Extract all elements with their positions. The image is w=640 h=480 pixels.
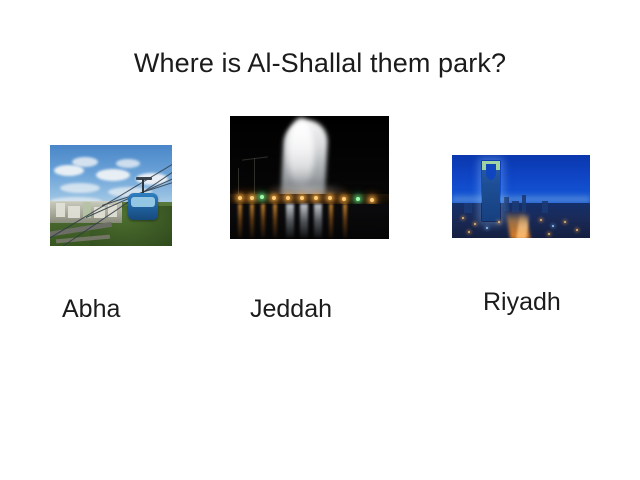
tower-arch-opening (486, 164, 496, 180)
city-light (462, 217, 464, 219)
gondola-hanger-arm (136, 177, 152, 180)
city-light (564, 221, 566, 223)
crane-shape (254, 158, 255, 194)
building-shape (504, 197, 509, 211)
shore-light (342, 197, 346, 201)
shore-light (314, 196, 318, 200)
light-reflection (286, 204, 294, 238)
shore-light (356, 197, 360, 201)
building-shape (68, 206, 80, 218)
light-reflection (329, 204, 333, 238)
jeddah-fountain-photo[interactable] (230, 116, 389, 239)
light-reflection (261, 204, 265, 238)
riyadh-kingdom-centre-photo[interactable] (452, 155, 590, 238)
light-reflection (300, 204, 308, 238)
city-light (474, 223, 476, 225)
shore-light (300, 196, 304, 200)
building-shape (522, 195, 526, 212)
gondola-window (131, 197, 155, 207)
answer-label-jeddah[interactable]: Jeddah (250, 295, 332, 324)
abha-cable-car-photo[interactable] (50, 145, 172, 246)
city-light (576, 229, 578, 231)
shore-light (328, 196, 332, 200)
cloud-shape (96, 169, 130, 181)
page-title: Where is Al-Shallal them park? (0, 48, 640, 79)
light-reflection (238, 204, 242, 238)
cloud-shape (60, 183, 100, 193)
city-light (548, 233, 550, 235)
city-light (498, 221, 500, 223)
light-reflection (343, 204, 347, 238)
crane-shape (238, 168, 239, 194)
horizon-glow (452, 193, 590, 203)
city-light (540, 219, 542, 221)
shoreline-band (230, 194, 389, 204)
building-shape (464, 203, 472, 213)
fountain-water-jet-core (288, 118, 314, 188)
light-reflection (250, 204, 254, 238)
city-light (552, 225, 554, 227)
shore-light (250, 196, 254, 200)
shore-light (286, 196, 290, 200)
light-reflection (314, 204, 322, 238)
gondola-hanger (142, 179, 144, 194)
shore-light (238, 196, 242, 200)
cloud-shape (72, 157, 98, 167)
shore-light (260, 195, 264, 199)
quiz-slide: Where is Al-Shallal them park? (0, 0, 640, 480)
cloud-shape (116, 159, 140, 168)
answer-label-riyadh[interactable]: Riyadh (483, 288, 561, 317)
shore-light (272, 196, 276, 200)
city-light (486, 227, 488, 229)
answer-label-abha[interactable]: Abha (62, 295, 120, 324)
building-shape (56, 203, 65, 217)
shore-light (370, 198, 374, 202)
light-reflection (273, 204, 277, 238)
building-shape (542, 201, 548, 213)
city-light (468, 231, 470, 233)
